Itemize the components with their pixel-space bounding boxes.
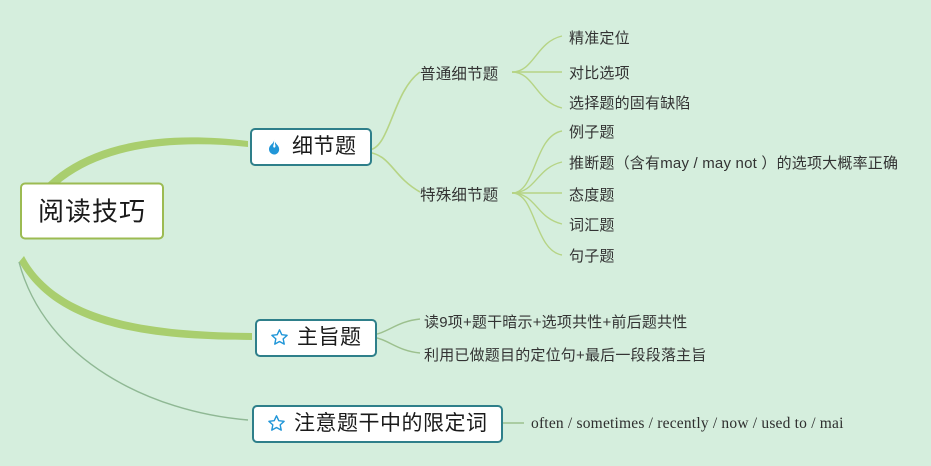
mindmap-canvas: 阅读技巧 细节题 主旨题 注意题干中的限定词 普通细节题 特殊细节题 精准定位 — [0, 0, 931, 466]
link-detail-to-common — [368, 72, 420, 150]
subtopic-special-detail[interactable]: 特殊细节题 — [420, 183, 499, 205]
leaf-main-idea-1[interactable]: 利用已做题目的定位句+最后一段段落主旨 — [424, 344, 707, 365]
star-icon — [268, 327, 290, 349]
branch-link-root-to-mainidea — [19, 256, 252, 340]
flame-icon — [263, 136, 285, 158]
subtopic-common-detail[interactable]: 普通细节题 — [420, 62, 499, 84]
link-detail-to-special — [368, 152, 420, 192]
leaf-common-0[interactable]: 精准定位 — [569, 27, 630, 48]
branch-link-root-to-qualifier — [19, 262, 248, 420]
leaf-special-1[interactable]: 推断题（含有may / may not ）的选项大概率正确 — [569, 152, 898, 173]
branch-node-detail-label: 细节题 — [292, 135, 357, 158]
star-icon — [265, 413, 287, 435]
branch-node-detail[interactable]: 细节题 — [250, 128, 372, 166]
leaf-main-idea-0[interactable]: 读9项+题干暗示+选项共性+前后题共性 — [424, 311, 687, 332]
link-common-to-leaf-2 — [512, 72, 562, 108]
leaf-special-2[interactable]: 态度题 — [569, 184, 615, 205]
leaf-qualifier-0[interactable]: often / sometimes / recently / now / use… — [531, 415, 844, 433]
branch-node-qualifier-label: 注意题干中的限定词 — [294, 412, 488, 435]
leaf-special-3[interactable]: 词汇题 — [569, 214, 615, 235]
branch-node-main-idea-label: 主旨题 — [297, 326, 362, 349]
leaf-common-2[interactable]: 选择题的固有缺陷 — [569, 92, 691, 113]
branch-node-main-idea[interactable]: 主旨题 — [255, 319, 377, 357]
link-special-to-leaf-3 — [512, 193, 562, 224]
root-node-label: 阅读技巧 — [38, 192, 146, 229]
link-common-to-leaf-0 — [512, 36, 562, 72]
link-special-to-leaf-4 — [512, 193, 562, 255]
leaf-special-4[interactable]: 句子题 — [569, 245, 615, 266]
link-special-to-leaf-0 — [512, 131, 562, 193]
branch-node-qualifier[interactable]: 注意题干中的限定词 — [252, 405, 503, 443]
leaf-special-0[interactable]: 例子题 — [569, 121, 615, 142]
leaf-common-1[interactable]: 对比选项 — [569, 62, 630, 83]
root-node[interactable]: 阅读技巧 — [20, 183, 164, 240]
link-special-to-leaf-1 — [512, 162, 562, 193]
